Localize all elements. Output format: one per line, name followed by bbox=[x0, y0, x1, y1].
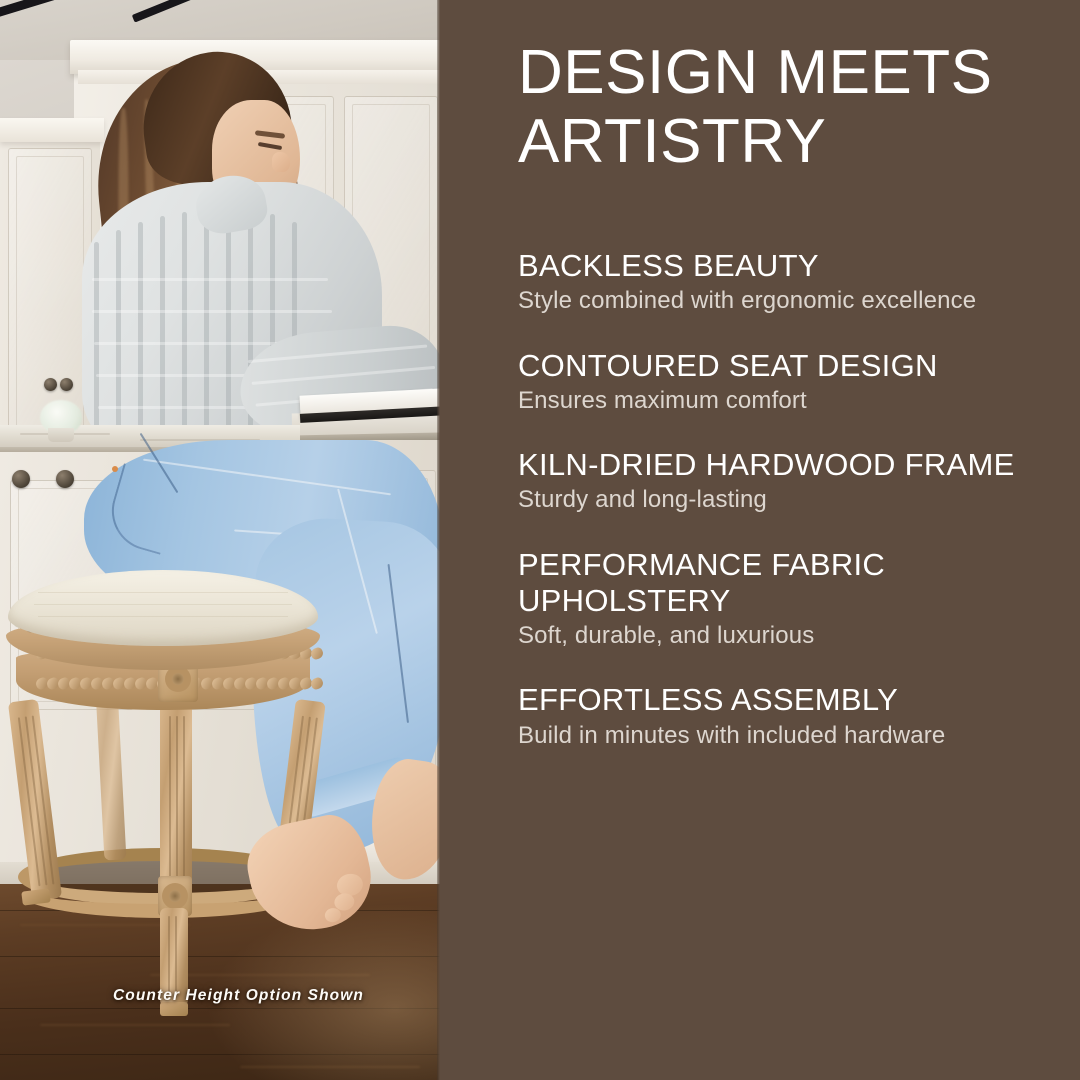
page-title: DESIGN MEETSARTISTRY bbox=[518, 38, 1058, 177]
feature-heading: KILN-DRIED HARDWOOD FRAME bbox=[518, 447, 1074, 483]
cabinet-knob bbox=[56, 470, 74, 488]
cabinet-crown-molding-left bbox=[0, 118, 104, 142]
feature-item-backless-beauty: BACKLESS BEAUTY Style combined with ergo… bbox=[518, 248, 1074, 316]
feature-text-panel: DESIGN MEETSARTISTRY BACKLESS BEAUTY Sty… bbox=[440, 0, 1080, 1080]
feature-subtitle: Soft, durable, and luxurious bbox=[518, 621, 1074, 650]
photo-caption: Counter Height Option Shown bbox=[113, 987, 364, 1005]
jeans-rivet bbox=[112, 466, 118, 472]
cabinet-knob bbox=[60, 378, 73, 391]
feature-subtitle: Ensures maximum comfort bbox=[518, 386, 1074, 415]
feature-heading: CONTOURED SEAT DESIGN bbox=[518, 348, 1074, 384]
feature-item-performance-fabric-upholstery: PERFORMANCE FABRIC UPHOLSTERY Soft, dura… bbox=[518, 547, 1074, 651]
vase bbox=[48, 428, 74, 442]
product-feature-graphic: Counter Height Option Shown DESIGN MEETS… bbox=[0, 0, 1080, 1080]
feature-heading: EFFORTLESS ASSEMBLY bbox=[518, 682, 1074, 718]
feature-heading: BACKLESS BEAUTY bbox=[518, 248, 1074, 284]
feature-item-kiln-dried-hardwood-frame: KILN-DRIED HARDWOOD FRAME Sturdy and lon… bbox=[518, 447, 1074, 515]
feature-heading: PERFORMANCE FABRIC UPHOLSTERY bbox=[518, 547, 1074, 620]
feature-subtitle: Style combined with ergonomic excellence bbox=[518, 286, 1074, 315]
nose bbox=[272, 152, 290, 172]
page-title-line-1: DESIGN MEETS bbox=[518, 38, 993, 107]
lifestyle-photo: Counter Height Option Shown bbox=[0, 0, 440, 1080]
feature-subtitle: Build in minutes with included hardware bbox=[518, 721, 1074, 750]
cabinet-knob bbox=[12, 470, 30, 488]
feature-list: BACKLESS BEAUTY Style combined with ergo… bbox=[518, 248, 1074, 782]
cabinet-knob bbox=[44, 378, 57, 391]
feature-item-effortless-assembly: EFFORTLESS ASSEMBLY Build in minutes wit… bbox=[518, 682, 1074, 750]
feature-subtitle: Sturdy and long-lasting bbox=[518, 485, 1074, 514]
page-title-line-2: ARTISTRY bbox=[518, 107, 826, 176]
feature-item-contoured-seat-design: CONTOURED SEAT DESIGN Ensures maximum co… bbox=[518, 348, 1074, 416]
